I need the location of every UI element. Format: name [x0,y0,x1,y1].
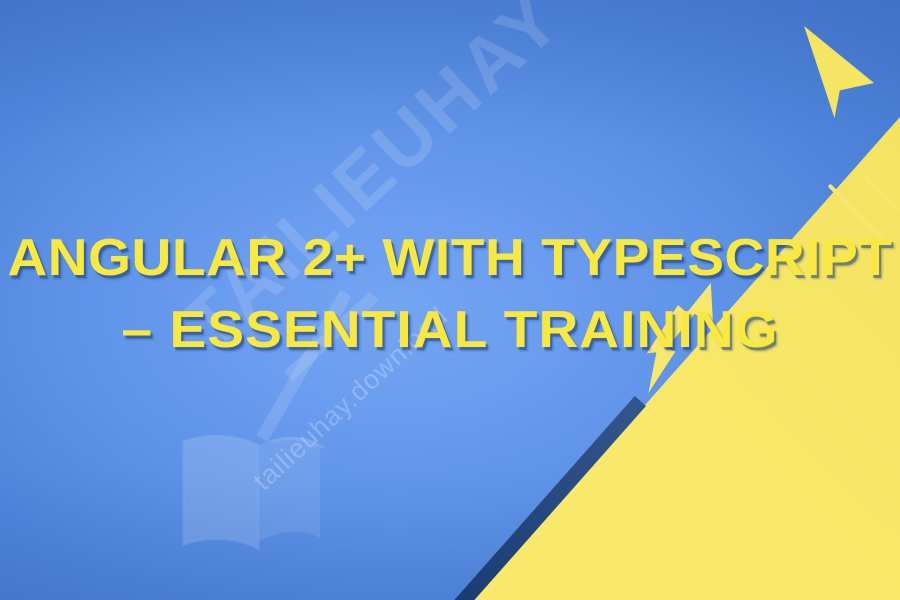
course-banner-image: TAILIEUHAY tailieuhay.download ANGULAR 2… [0,0,900,600]
